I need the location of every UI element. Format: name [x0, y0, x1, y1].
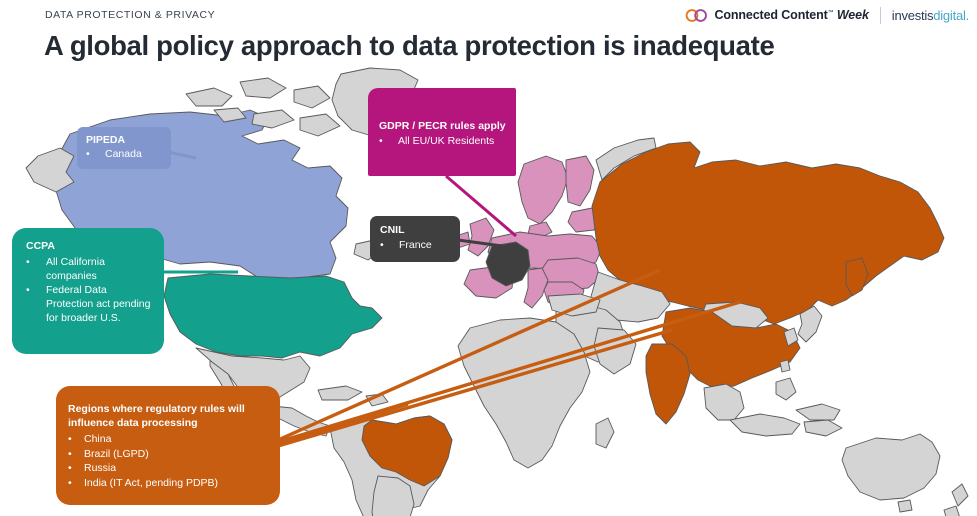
region-philippines: [776, 378, 796, 400]
country-finland: [566, 156, 594, 206]
list-item: • Brazil (LGPD): [68, 447, 272, 461]
connected-content-week-wordmark: Connected Content™ Week: [714, 8, 868, 22]
bullet-icon: •: [68, 476, 84, 490]
callout-cnil-bullets: • France: [380, 239, 460, 253]
bullet-icon: •: [26, 284, 46, 298]
bullet-icon: •: [86, 148, 105, 161]
bullet-text: Canada: [105, 148, 171, 161]
country-taiwan: [780, 360, 790, 372]
callout-ccpa-bullets: • All California companies • Federal Dat…: [26, 256, 156, 326]
list-item: • China: [68, 432, 272, 446]
bullet-text: Russia: [84, 461, 272, 475]
bullet-icon: •: [26, 256, 46, 270]
country-india: [646, 344, 690, 424]
callout-ccpa[interactable]: CCPA • All California companies • Federa…: [12, 228, 164, 354]
country-usa: [164, 274, 382, 358]
region-scandinavia: [518, 156, 568, 224]
region-southeast-asia: [704, 384, 744, 420]
callout-pipeda[interactable]: PIPEDA • Canada: [77, 127, 171, 169]
digital-text: digital.: [933, 8, 969, 23]
island-png: [796, 404, 840, 420]
country-alaska: [26, 148, 74, 192]
list-item: • Canada: [86, 148, 171, 161]
island-madagascar: [596, 418, 614, 448]
callout-pipeda-bullets: • Canada: [86, 148, 171, 161]
slide-kicker: DATA PROTECTION & PRIVACY: [45, 9, 215, 21]
bullet-text: Federal Data Protection act pending for …: [46, 284, 156, 326]
bullet-text: France: [399, 239, 460, 253]
bullet-icon: •: [68, 461, 84, 475]
bullet-icon: •: [379, 134, 398, 148]
connected-content-text: Connected Content: [714, 8, 827, 22]
callout-pipeda-title: PIPEDA: [86, 134, 171, 147]
callout-regions-title: Regions where regulatory rules will infl…: [68, 403, 272, 430]
callout-gdpr-title: GDPR / PECR rules apply: [379, 119, 510, 133]
callout-ccpa-title: CCPA: [26, 240, 156, 254]
list-item: • Federal Data Protection act pending fo…: [26, 284, 156, 326]
country-new-zealand: [944, 484, 968, 516]
list-item: • All California companies: [26, 256, 156, 284]
bullet-icon: •: [68, 432, 84, 446]
central-america: [272, 406, 330, 436]
bullet-text: All EU/UK Residents: [398, 134, 510, 148]
caribbean-islands: [318, 386, 388, 406]
callout-cnil[interactable]: CNIL • France: [370, 216, 460, 262]
island-tasmania: [898, 500, 912, 512]
investis-text: investis: [892, 8, 933, 23]
bullet-icon: •: [68, 447, 84, 461]
brand-divider: [880, 7, 881, 24]
trademark-symbol: ™: [828, 10, 834, 16]
callout-cnil-title: CNIL: [380, 224, 460, 238]
list-item: • India (IT Act, pending PDPB): [68, 476, 272, 490]
week-text: Week: [837, 8, 869, 22]
list-item: • France: [380, 239, 460, 253]
list-item: • All EU/UK Residents: [379, 134, 510, 148]
country-australia: [842, 434, 940, 500]
investis-digital-logo: investisdigital.: [892, 8, 969, 23]
bullet-icon: •: [380, 239, 399, 253]
callout-gdpr-bullets: • All EU/UK Residents: [379, 134, 510, 148]
callout-gdpr[interactable]: GDPR / PECR rules apply • All EU/UK Resi…: [368, 88, 516, 176]
bullet-text: All California companies: [46, 256, 156, 284]
slide-canvas: DATA PROTECTION & PRIVACY A global polic…: [0, 0, 977, 516]
bullet-text: India (IT Act, pending PDPB): [84, 476, 272, 490]
bullet-text: Brazil (LGPD): [84, 447, 272, 461]
bullet-text: China: [84, 432, 272, 446]
continent-africa: [458, 318, 590, 468]
country-italy: [524, 268, 548, 308]
list-item: • Russia: [68, 461, 272, 475]
brand-lockup: Connected Content™ Week investisdigital.: [685, 5, 969, 25]
connected-content-week-logo: Connected Content™ Week: [685, 8, 868, 22]
region-arabian-peninsula: [594, 328, 636, 374]
callout-regions[interactable]: Regions where regulatory rules will infl…: [56, 386, 280, 505]
connected-rings-icon: [685, 9, 709, 22]
callout-regions-bullets: • China • Brazil (LGPD) • Russia • India…: [68, 432, 272, 490]
